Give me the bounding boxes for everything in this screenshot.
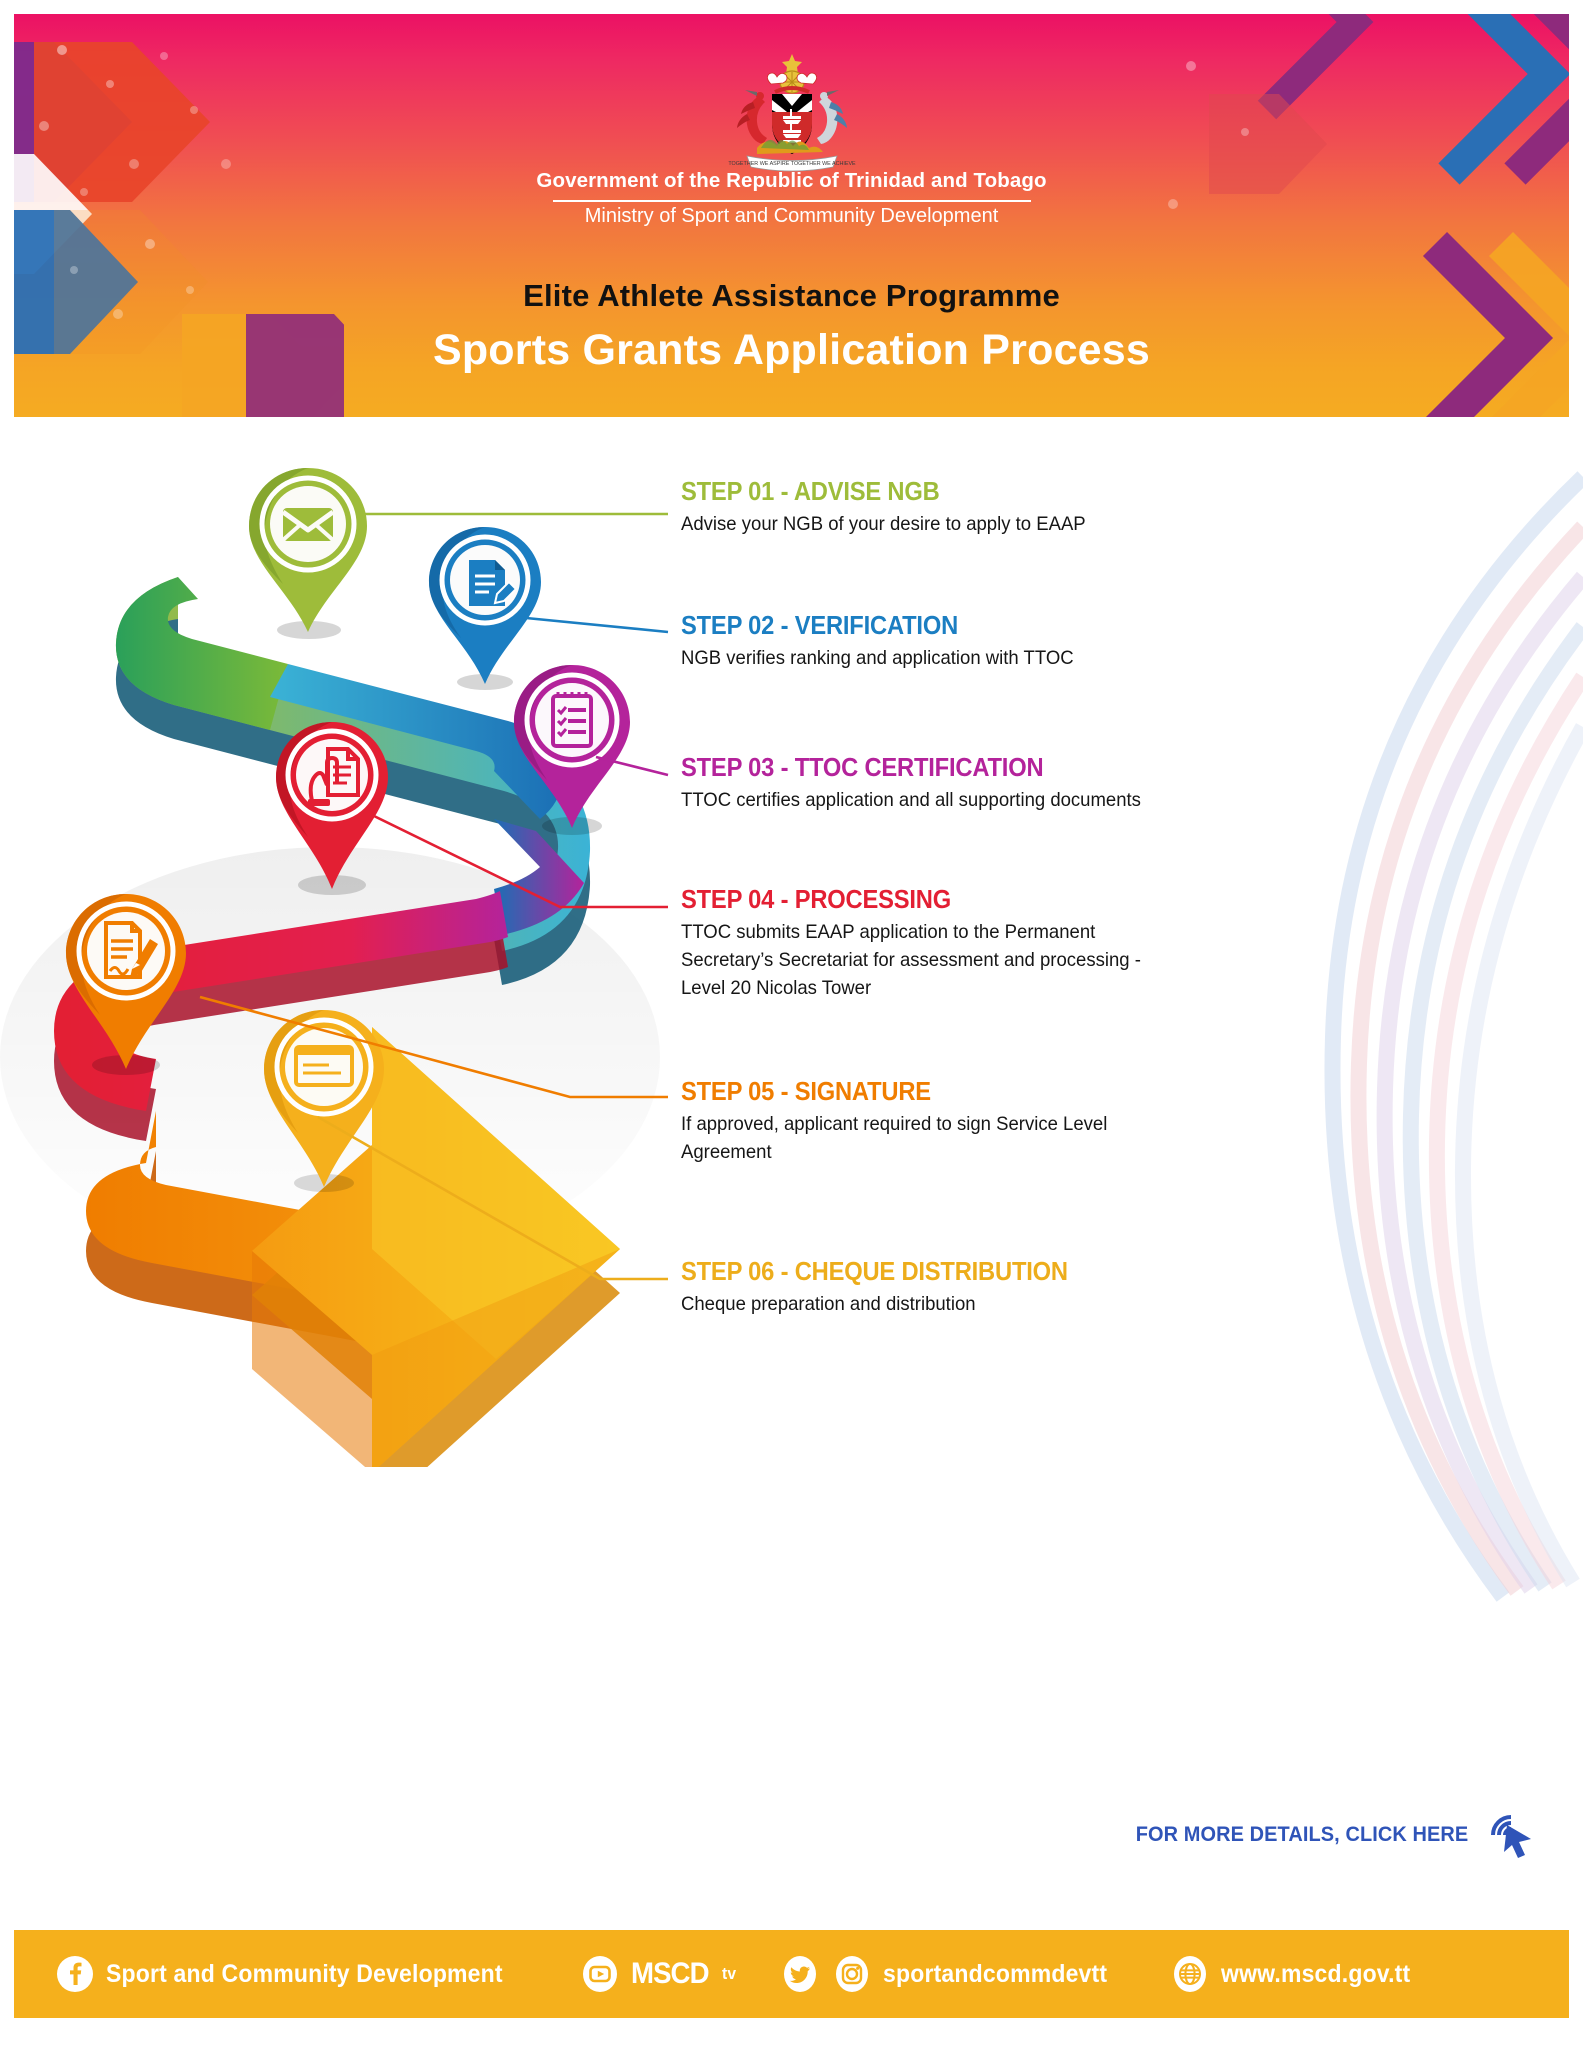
step-desc-3: TTOC certifies application and all suppo… bbox=[681, 786, 1185, 814]
step-title-2: STEP 02 - VERIFICATION bbox=[681, 613, 1165, 640]
step-title-4: STEP 04 - PROCESSING bbox=[681, 887, 1165, 914]
step-title-5: STEP 05 - SIGNATURE bbox=[681, 1079, 1165, 1106]
step-title-6: STEP 06 - CHEQUE DISTRIBUTION bbox=[681, 1259, 1165, 1286]
youtube-icon[interactable] bbox=[581, 1955, 619, 1993]
ministry-line: Ministry of Sport and Community Developm… bbox=[585, 205, 999, 228]
globe-icon[interactable] bbox=[1171, 1955, 1209, 1993]
page-title: Sports Grants Application Process bbox=[433, 326, 1150, 375]
step-title-1: STEP 01 - ADVISE NGB bbox=[681, 479, 1165, 506]
footer-instagram[interactable]: sportandcommdevtt bbox=[833, 1955, 1127, 1993]
footer-website[interactable]: www.mscd.gov.tt bbox=[1171, 1955, 1427, 1993]
footer-facebook[interactable]: Sport and Community Development bbox=[56, 1955, 537, 1993]
background-rings-decoration bbox=[1153, 417, 1583, 1617]
instagram-icon[interactable] bbox=[833, 1955, 871, 1993]
header-decoration-right bbox=[1149, 14, 1569, 417]
step-desc-1: Advise your NGB of your desire to apply … bbox=[681, 510, 1185, 538]
step-block-3: STEP 03 - TTOC CERTIFICATION TTOC certif… bbox=[681, 755, 1201, 814]
header-banner: TOGETHER WE ASPIRE TOGETHER WE ACHIEVE G… bbox=[14, 14, 1569, 417]
footer-youtube-label: MSCD bbox=[631, 1957, 709, 1991]
header-decoration-left bbox=[14, 14, 344, 417]
twitter-icon[interactable] bbox=[781, 1955, 819, 1993]
leader-lines bbox=[0, 417, 700, 1717]
svg-text:TOGETHER WE ASPIRE TOGETHER WE: TOGETHER WE ASPIRE TOGETHER WE ACHIEVE bbox=[728, 161, 856, 167]
step-desc-6: Cheque preparation and distribution bbox=[681, 1290, 1185, 1318]
footer-website-label: www.mscd.gov.tt bbox=[1221, 1960, 1410, 1989]
step-block-1: STEP 01 - ADVISE NGB Advise your NGB of … bbox=[681, 479, 1201, 538]
government-line: Government of the Republic of Trinidad a… bbox=[536, 169, 1046, 193]
step-title-3: STEP 03 - TTOC CERTIFICATION bbox=[681, 755, 1165, 782]
more-details-cta[interactable]: FOR MORE DETAILS, CLICK HERE bbox=[1127, 1809, 1537, 1861]
footer-youtube-suffix: tv bbox=[722, 1964, 736, 1984]
header-divider bbox=[553, 200, 1031, 202]
step-desc-2: NGB verifies ranking and application wit… bbox=[681, 644, 1185, 672]
step-block-4: STEP 04 - PROCESSING TTOC submits EAAP a… bbox=[681, 887, 1201, 1003]
footer-twitter[interactable] bbox=[781, 1955, 819, 1993]
step-block-2: STEP 02 - VERIFICATION NGB verifies rank… bbox=[681, 613, 1201, 672]
footer-facebook-label: Sport and Community Development bbox=[106, 1960, 503, 1989]
process-diagram: STEP 01 - ADVISE NGB Advise your NGB of … bbox=[0, 417, 1583, 1930]
step-desc-5: If approved, applicant required to sign … bbox=[681, 1110, 1185, 1167]
step-desc-4: TTOC submits EAAP application to the Per… bbox=[681, 918, 1185, 1003]
footer-bar: Sport and Community Development MSCD tv … bbox=[14, 1930, 1569, 2018]
step-block-5: STEP 05 - SIGNATURE If approved, applica… bbox=[681, 1079, 1201, 1166]
step-block-6: STEP 06 - CHEQUE DISTRIBUTION Cheque pre… bbox=[681, 1259, 1201, 1318]
cursor-click-icon[interactable] bbox=[1485, 1809, 1537, 1861]
footer-youtube[interactable]: MSCD tv bbox=[581, 1955, 737, 1993]
coat-of-arms-icon: TOGETHER WE ASPIRE TOGETHER WE ACHIEVE bbox=[727, 52, 857, 172]
footer-instagram-label: sportandcommdevtt bbox=[883, 1960, 1107, 1989]
facebook-icon[interactable] bbox=[56, 1955, 94, 1993]
cta-label: FOR MORE DETAILS, CLICK HERE bbox=[1136, 1823, 1469, 1847]
programme-subtitle: Elite Athlete Assistance Programme bbox=[523, 278, 1060, 314]
